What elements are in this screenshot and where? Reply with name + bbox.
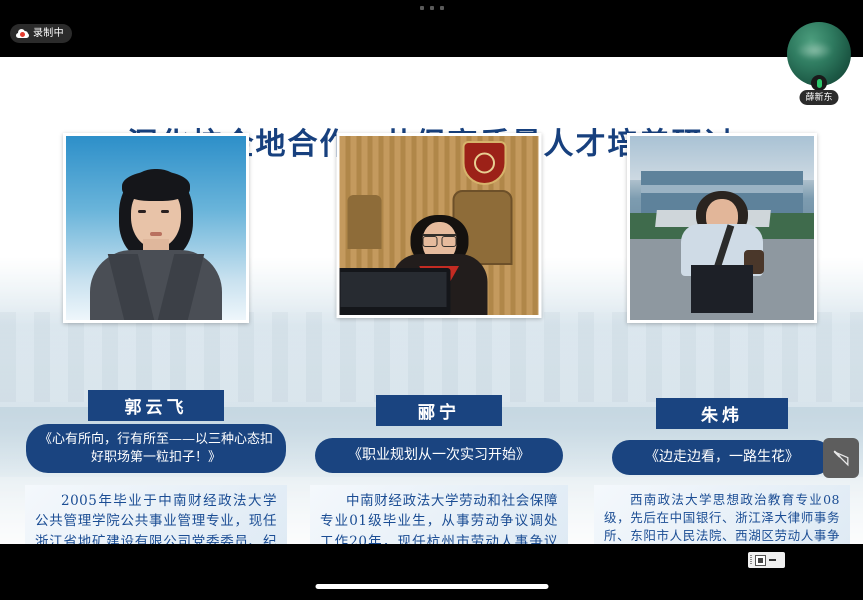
recording-badge-label: 录制中 — [33, 29, 64, 39]
layout-grid-icon[interactable] — [755, 555, 766, 566]
speaker-topic: 《职业规划从一次实习开始》 — [315, 438, 563, 473]
speaker-name: 郦宁 — [376, 395, 502, 426]
home-indicator — [315, 584, 548, 589]
floating-mini-toolbar[interactable] — [748, 552, 785, 568]
bottom-bar — [0, 544, 863, 600]
participant-thumbnail[interactable]: 薛新东 — [787, 22, 851, 86]
screen-root: 录制中 薛新东 深化校企地合作，共促高质量人才培养研讨 — [0, 0, 863, 600]
speaker-columns: 郭云飞 《心有所向，行有所至——以三种心态扣好职场第一粒扣子！》 2005年毕业… — [0, 57, 863, 544]
speaker-topic: 《心有所向，行有所至——以三种心态扣好职场第一粒扣子！》 — [26, 424, 286, 473]
speaker-photo — [627, 133, 817, 323]
speaker-bio: 西南政法大学思想政治教育专业08级，先后在中国银行、浙江泽大律师事务所、东阳市人… — [594, 485, 850, 544]
speaker-bio: 中南财经政法大学劳动和社会保障专业01级毕业生，从事劳动争议调处工作20年，现任… — [310, 485, 568, 544]
top-bar: 录制中 — [0, 0, 863, 57]
recording-badge[interactable]: 录制中 — [10, 24, 72, 43]
annotate-button[interactable] — [823, 438, 859, 478]
drag-grip-icon[interactable] — [750, 555, 752, 565]
minimize-icon[interactable] — [769, 559, 776, 561]
microphone-icon[interactable] — [811, 75, 827, 91]
pencil-annotate-icon — [832, 449, 851, 468]
speaker-topic: 《边走边看，一路生花》 — [612, 440, 832, 475]
shared-slide[interactable]: 深化校企地合作，共促高质量人才培养研讨 郭云飞 《心有所向，行有所至——以三种心… — [0, 57, 863, 544]
speaker-bio: 2005年毕业于中南财经政法大学公共管理学院公共事业管理专业，现任浙江省地矿建设… — [25, 485, 287, 544]
speaker-photo — [337, 133, 542, 318]
cloud-record-icon — [16, 29, 29, 38]
speaker-name: 朱炜 — [656, 398, 788, 429]
drag-handle-dots-icon[interactable] — [420, 6, 444, 10]
speaker-name: 郭云飞 — [88, 390, 224, 421]
speaker-photo — [63, 133, 249, 323]
participant-name-label: 薛新东 — [799, 90, 838, 105]
